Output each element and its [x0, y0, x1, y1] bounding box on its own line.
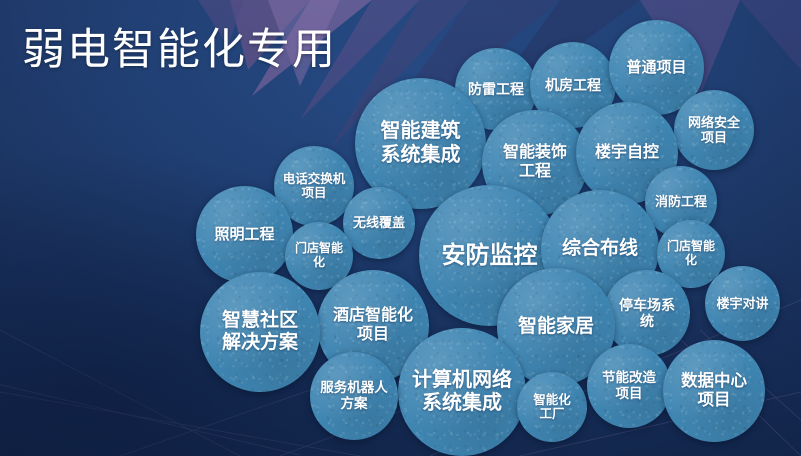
bubble-label: 服务机器人 方案 [314, 380, 394, 411]
bubble-shuju-zhongxin[interactable]: 数据中心 项目 [663, 340, 765, 442]
bubble-label: 门店智能 化 [289, 242, 349, 270]
bubble-cloud: 防雷工程机房工程普通项目网络安全 项目智能建筑 系统集成智能装饰 工程楼宇自控电… [0, 0, 801, 456]
bubble-label: 网络安全 项目 [682, 115, 746, 145]
bubble-label: 消防工程 [649, 194, 713, 209]
bubble-label: 照明工程 [208, 226, 280, 243]
bubble-label: 智能家居 [512, 316, 600, 338]
bubble-label: 计算机网络 系统集成 [406, 369, 518, 415]
bubble-zhinenghua-gongchang[interactable]: 智能化 工厂 [517, 372, 587, 442]
bubble-label: 智慧社区 解决方案 [216, 310, 304, 354]
bubble-zhihui-shequ[interactable]: 智慧社区 解决方案 [200, 272, 320, 392]
bubble-label: 楼宇自控 [589, 144, 665, 163]
bubble-label: 智能化 工厂 [527, 393, 577, 422]
bubble-wangluo-anquan[interactable]: 网络安全 项目 [674, 90, 754, 170]
bubble-fuwu-jiqiren[interactable]: 服务机器人 方案 [310, 352, 398, 440]
bubble-label: 楼宇对讲 [710, 296, 774, 311]
bubble-label: 普通项目 [620, 59, 692, 76]
bubble-label: 安防监控 [436, 242, 544, 270]
bubble-label: 智能装饰 工程 [497, 144, 573, 181]
bubble-label: 节能改造 项目 [596, 370, 662, 401]
bubble-zhaoming-gongcheng[interactable]: 照明工程 [196, 186, 293, 283]
bubble-wuxian-fugai[interactable]: 无线覆盖 [343, 187, 415, 259]
bubble-label: 停车场系 统 [613, 297, 681, 329]
bubble-label: 智能建筑 系统集成 [375, 120, 467, 166]
bubble-label: 数据中心 项目 [675, 372, 753, 410]
bubble-label: 综合布线 [556, 238, 644, 260]
bubble-label: 酒店智能化 项目 [327, 307, 419, 344]
slide-canvas: 弱电智能化专用 防雷工程机房工程普通项目网络安全 项目智能建筑 系统集成智能装饰… [0, 0, 801, 456]
bubble-jisuanji-wangluo[interactable]: 计算机网络 系统集成 [398, 328, 526, 456]
bubble-label: 门店智能 化 [661, 240, 721, 268]
bubble-label: 防雷工程 [462, 81, 530, 97]
bubble-tingchechang-xitong[interactable]: 停车场系 统 [604, 270, 690, 356]
bubble-jieneng-gaizao[interactable]: 节能改造 项目 [587, 344, 671, 428]
bubble-label: 电话交换机 项目 [277, 172, 352, 201]
bubble-label: 机房工程 [539, 77, 607, 93]
bubble-label: 无线覆盖 [347, 215, 411, 230]
bubble-louyu-duijiang[interactable]: 楼宇对讲 [705, 266, 780, 341]
